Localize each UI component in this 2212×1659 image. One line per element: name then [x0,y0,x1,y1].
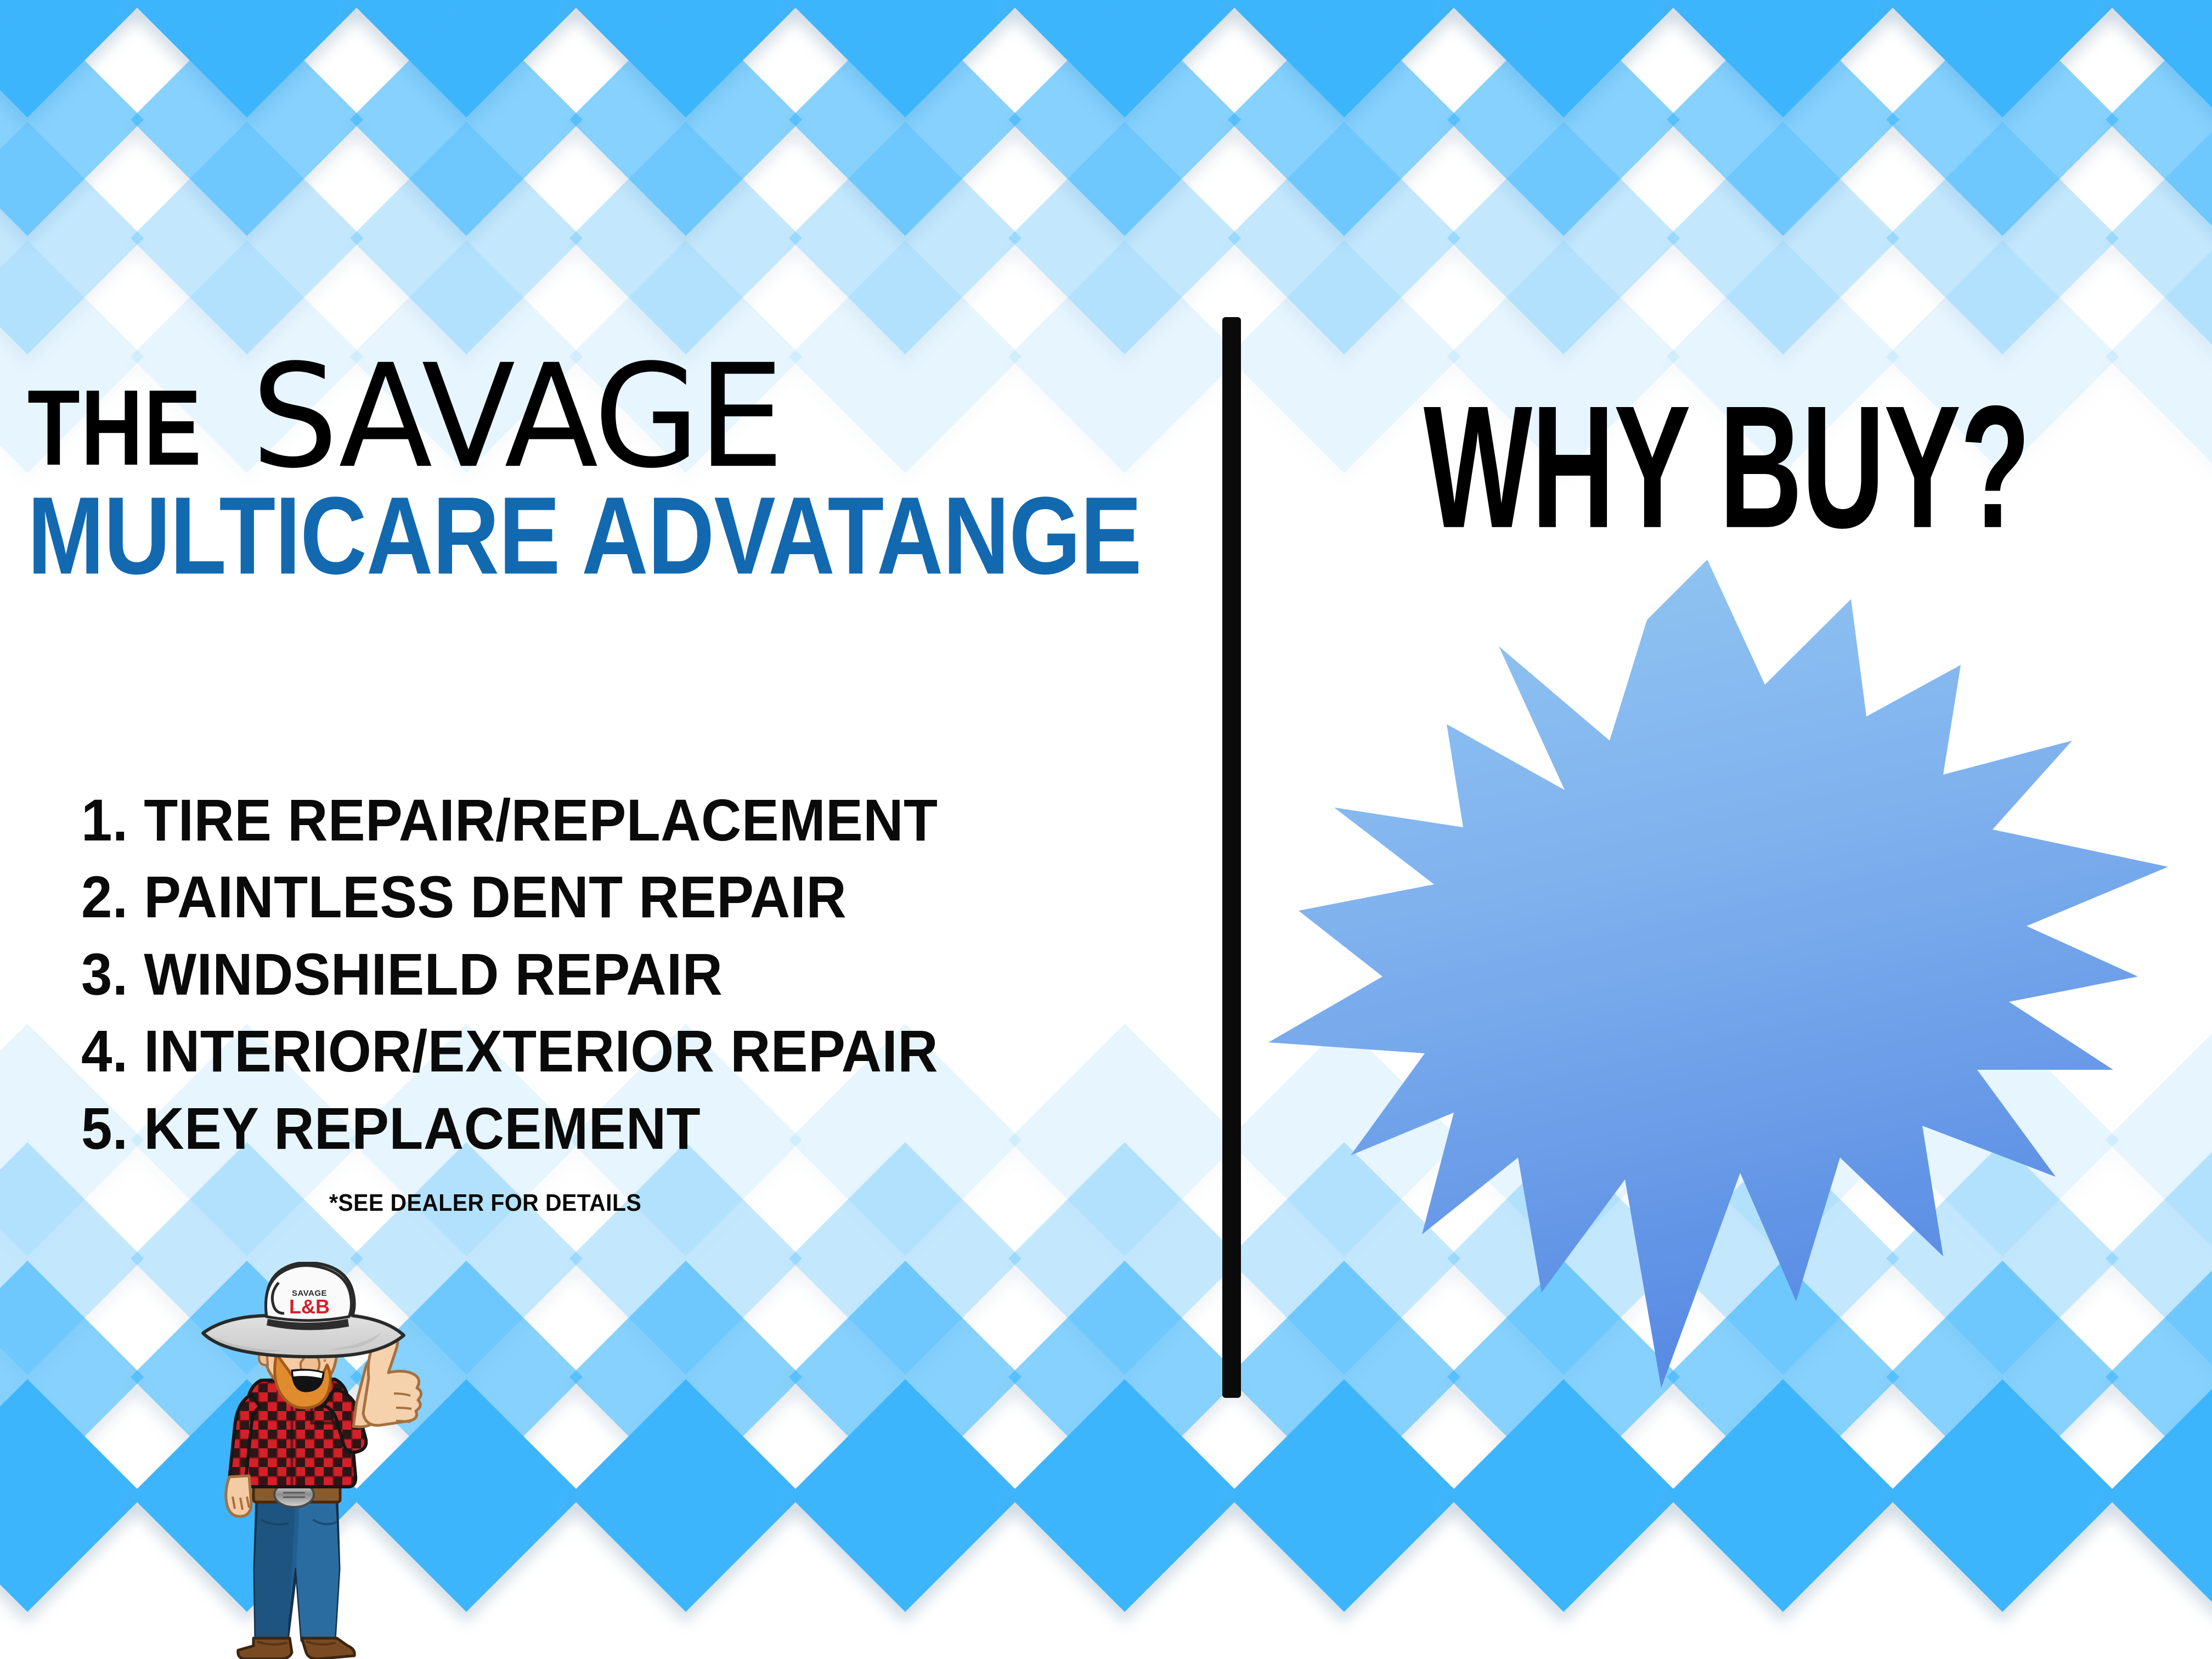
left-panel: THE SAVAGE MULTICARE ADVATANGE 1. TIRE R… [0,0,1222,1659]
title-row-primary: THE SAVAGE [27,326,1180,475]
why-buy-text: WHY BUY? [1424,384,2030,550]
mascot-boots [238,1638,355,1659]
title-main: SAVAGE [251,355,782,478]
vertical-divider [1222,317,1241,1398]
starburst-badge [1268,560,2168,1388]
mascot-jeans [255,1498,339,1640]
mascot-cowboy-hat: SAVAGE L&B [203,1263,404,1357]
list-item: 5. KEY REPLACEMENT [81,1090,1113,1167]
promo-poster: THE SAVAGE MULTICARE ADVATANGE 1. TIRE R… [0,0,2212,1659]
service-list: 1. TIRE REPAIR/REPLACEMENT 2. PAINTLESS … [81,782,1178,1167]
list-item: 1. TIRE REPAIR/REPLACEMENT [81,782,1113,859]
why-buy-headline: WHY BUY? [1241,384,2212,540]
list-item: 3. WINDSHIELD REPAIR [81,936,1113,1013]
mascot-illustration: SAVAGE L&B [174,1262,449,1659]
list-item: 4. INTERIOR/EXTERIOR REPAIR [81,1013,1113,1090]
title-subtitle: MULTICARE ADVATANGE [27,481,1070,591]
list-item: 2. PAINTLESS DENT REPAIR [81,859,1113,935]
disclaimer-text: *SEE DEALER FOR DETAILS [329,1189,641,1217]
right-panel: WHY BUY? WE'VE GOT YOU COVERED FOR 6 MON… [1241,0,2212,1659]
starburst-shape [1268,560,2168,1388]
title-block: THE SAVAGE MULTICARE ADVATANGE [27,326,1180,583]
title-prefix: THE [27,382,202,475]
hat-logo-main: L&B [289,1295,330,1318]
